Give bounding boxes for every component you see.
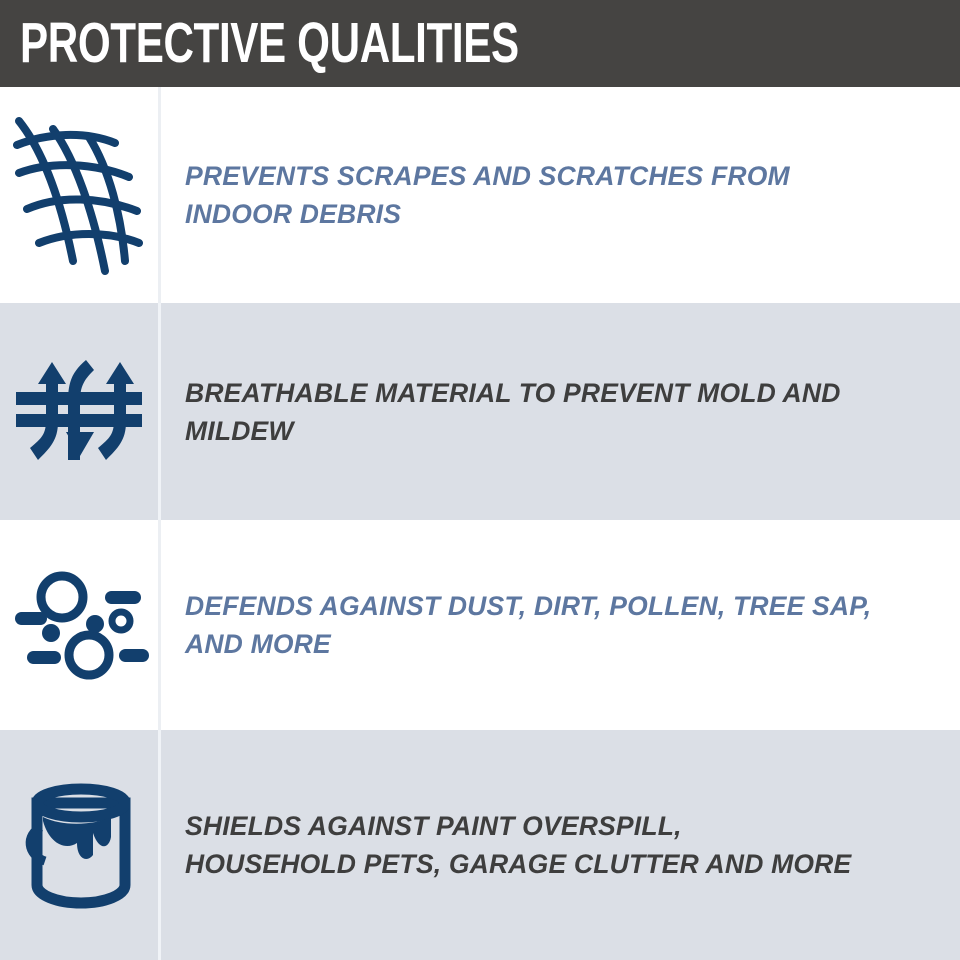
feature-text-line-2: INDOOR DEBRIS: [185, 195, 942, 233]
icon-cell: [0, 303, 158, 520]
feature-row-breathable: BREATHABLE MATERIAL TO PREVENT MOLD AND …: [0, 303, 960, 520]
text-cell: SHIELDS AGAINST PAINT OVERSPILL, HOUSEHO…: [161, 807, 960, 883]
text-cell: PREVENTS SCRAPES AND SCRATCHES FROM INDO…: [161, 157, 960, 233]
feature-list: PREVENTS SCRAPES AND SCRATCHES FROM INDO…: [0, 87, 960, 960]
dust-particles-icon: [9, 569, 149, 681]
feature-text-line-1: PREVENTS SCRAPES AND SCRATCHES FROM: [185, 157, 942, 195]
page-title: PROTECTIVE QUALITIES: [20, 15, 519, 72]
protective-qualities-infographic: PROTECTIVE QUALITIES: [0, 0, 960, 960]
feature-row-dust: DEFENDS AGAINST DUST, DIRT, POLLEN, TREE…: [0, 520, 960, 730]
feature-text-line-1: BREATHABLE MATERIAL TO PREVENT MOLD AND: [185, 374, 942, 412]
feature-text-line-1: DEFENDS AGAINST DUST, DIRT, POLLEN, TREE…: [185, 587, 942, 625]
feature-row-paint: SHIELDS AGAINST PAINT OVERSPILL, HOUSEHO…: [0, 730, 960, 960]
header-bar: PROTECTIVE QUALITIES: [0, 0, 960, 87]
paint-can-icon: [19, 781, 139, 909]
icon-cell: [0, 520, 158, 730]
icon-cell: [0, 730, 158, 960]
feature-text-line-2: HOUSEHOLD PETS, GARAGE CLUTTER AND MORE: [185, 845, 942, 883]
feature-row-scrapes: PREVENTS SCRAPES AND SCRATCHES FROM INDO…: [0, 87, 960, 303]
feature-text-line-2: AND MORE: [185, 625, 942, 663]
icon-cell: [0, 87, 158, 303]
feature-text-line-2: MILDEW: [185, 412, 942, 450]
mesh-weave-icon: [13, 111, 145, 279]
text-cell: BREATHABLE MATERIAL TO PREVENT MOLD AND …: [161, 374, 960, 450]
text-cell: DEFENDS AGAINST DUST, DIRT, POLLEN, TREE…: [161, 587, 960, 663]
breathable-airflow-icon: [14, 356, 144, 468]
feature-text-line-1: SHIELDS AGAINST PAINT OVERSPILL,: [185, 807, 942, 845]
